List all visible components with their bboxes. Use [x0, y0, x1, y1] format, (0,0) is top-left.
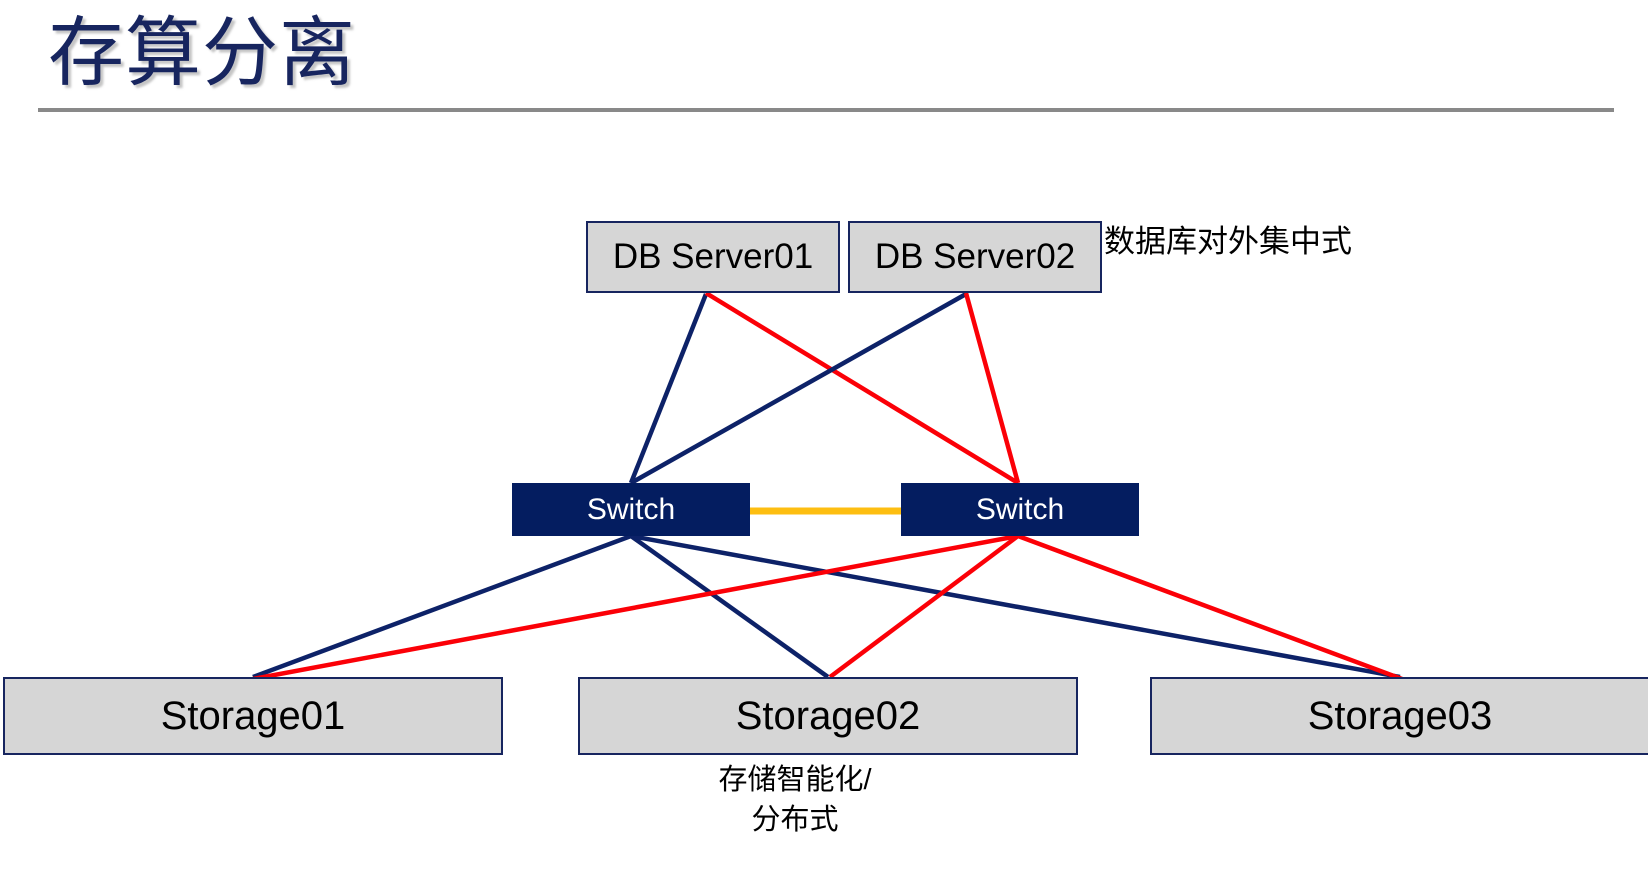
- switch-right-label: Switch: [976, 493, 1064, 527]
- link-db-server-01-to-switch-right: [706, 293, 1018, 483]
- storage-tier-note: 存储智能化/ 分布式: [640, 760, 950, 840]
- link-switch-left-to-storage-02: [631, 536, 828, 677]
- link-db-server-01-to-switch-left: [631, 294, 706, 483]
- link-switch-left-to-storage-03: [631, 536, 1400, 677]
- link-switch-right-to-storage-03: [1018, 536, 1402, 679]
- storage-02-label: Storage02: [736, 694, 921, 739]
- link-switch-left-to-storage-01: [253, 536, 631, 677]
- switch-left-label: Switch: [587, 493, 675, 527]
- switch-right-box[interactable]: Switch: [901, 483, 1139, 536]
- db-server-01-box[interactable]: DB Server01: [586, 221, 840, 293]
- db-tier-note: 数据库对外集中式: [1104, 222, 1352, 262]
- storage-01-box[interactable]: Storage01: [3, 677, 503, 755]
- storage-02-box[interactable]: Storage02: [578, 677, 1078, 755]
- db-server-02-box[interactable]: DB Server02: [848, 221, 1102, 293]
- link-db-server-02-to-switch-left: [631, 294, 966, 483]
- link-switch-right-to-storage-02: [830, 536, 1018, 677]
- storage-03-box[interactable]: Storage03: [1150, 677, 1648, 755]
- db-server-02-label: DB Server02: [875, 237, 1075, 277]
- db-server-01-label: DB Server01: [613, 237, 813, 277]
- switch-left-box[interactable]: Switch: [512, 483, 750, 536]
- storage-01-label: Storage01: [161, 694, 346, 739]
- storage-03-label: Storage03: [1308, 694, 1493, 739]
- slide-canvas: 存算分离 DB Server01DB Server02SwitchSwitchS…: [0, 0, 1648, 886]
- link-switch-right-to-storage-01: [253, 536, 1018, 679]
